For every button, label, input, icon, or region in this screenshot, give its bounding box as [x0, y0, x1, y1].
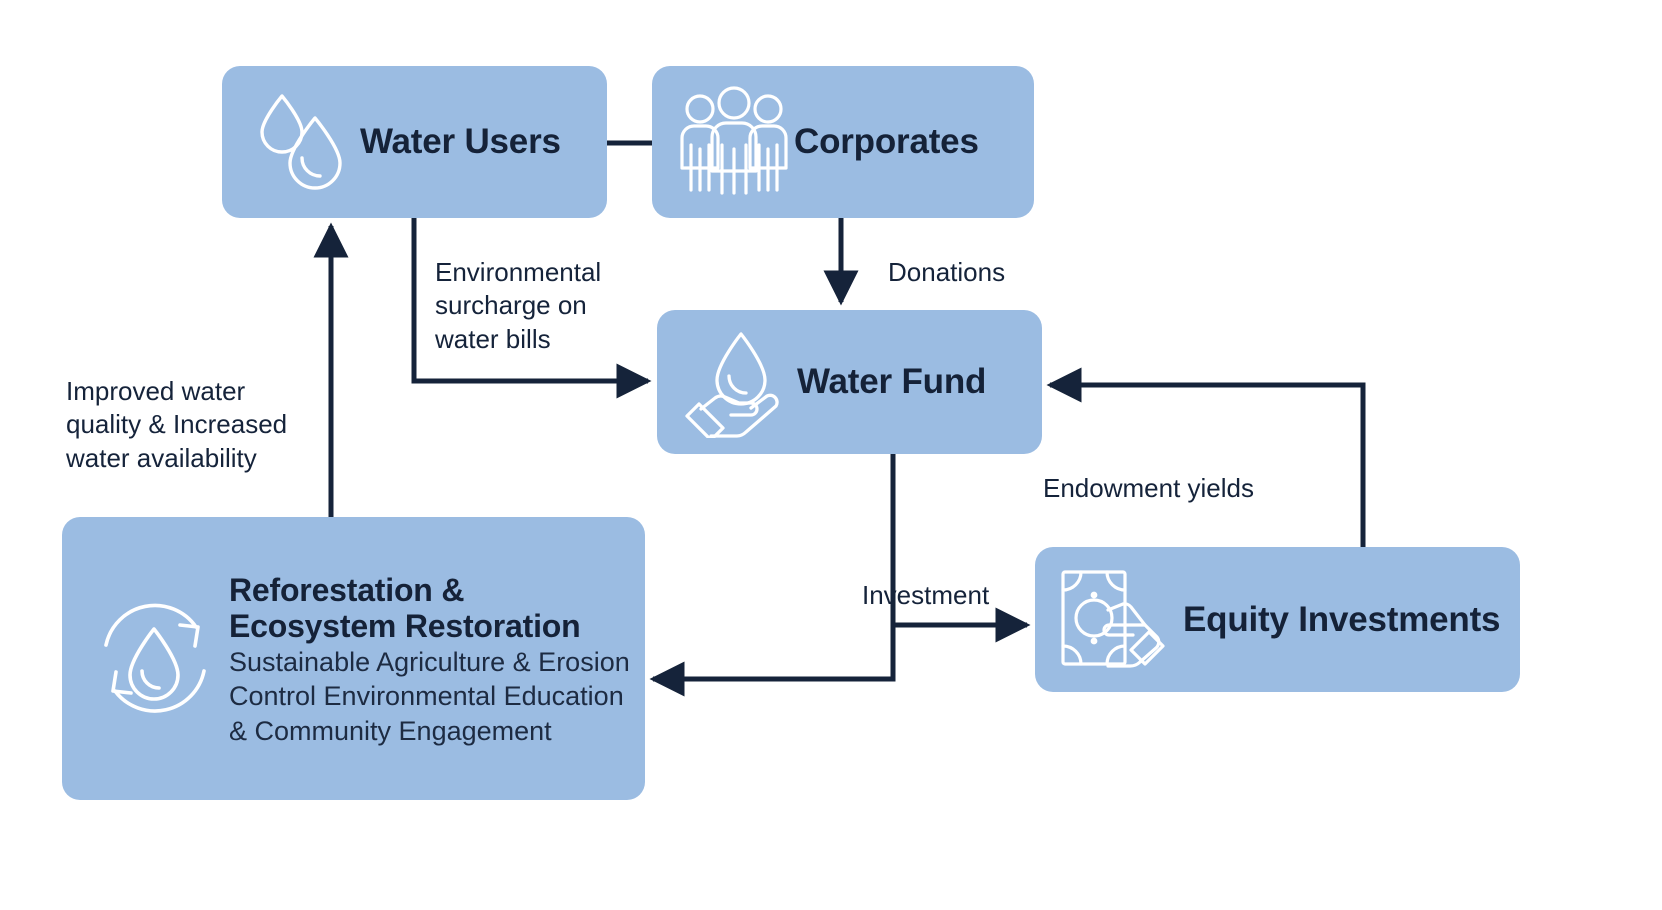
hand-holding-water-drop-icon [679, 326, 797, 438]
node-reforestation[interactable]: Reforestation & Ecosystem Restoration Su… [62, 517, 645, 800]
edge-label-investment: Investment [862, 579, 1062, 612]
node-label-group: Water Fund [797, 362, 1032, 401]
node-water-users[interactable]: Water Users [222, 66, 607, 218]
diagram-canvas: Water Users [0, 0, 1662, 910]
node-subtitle-reforestation: Sustainable Agriculture & Erosion Contro… [229, 645, 631, 749]
node-title-equity: Equity Investments [1183, 600, 1510, 639]
hand-holding-banknote-icon [1053, 560, 1183, 680]
edge-equity-to-fund [1050, 385, 1363, 547]
edge-label-improved-water-quality: Improved water quality & Increased water… [66, 375, 326, 475]
node-label-group: Reforestation & Ecosystem Restoration Su… [229, 569, 631, 748]
node-title-corporates: Corporates [794, 122, 1024, 161]
edge-fund-to-reforestation [653, 625, 893, 679]
node-equity[interactable]: Equity Investments [1035, 547, 1520, 692]
node-title-water-users: Water Users [360, 122, 597, 161]
node-label-group: Corporates [794, 122, 1024, 161]
node-title-reforestation: Reforestation & Ecosystem Restoration [229, 573, 631, 645]
node-label-group: Water Users [360, 122, 597, 161]
node-water-fund[interactable]: Water Fund [657, 310, 1042, 454]
node-title-water-fund: Water Fund [797, 362, 1032, 401]
water-cycle-recycle-icon [84, 589, 229, 729]
node-label-group: Equity Investments [1183, 600, 1510, 639]
edge-label-environmental-surcharge: Environmental surcharge on water bills [435, 256, 665, 356]
edge-label-endowment-yields: Endowment yields [1043, 472, 1363, 505]
group-of-people-icon [674, 83, 794, 201]
water-droplets-icon [250, 90, 360, 195]
node-corporates[interactable]: Corporates [652, 66, 1034, 218]
edge-label-donations: Donations [888, 256, 1138, 289]
